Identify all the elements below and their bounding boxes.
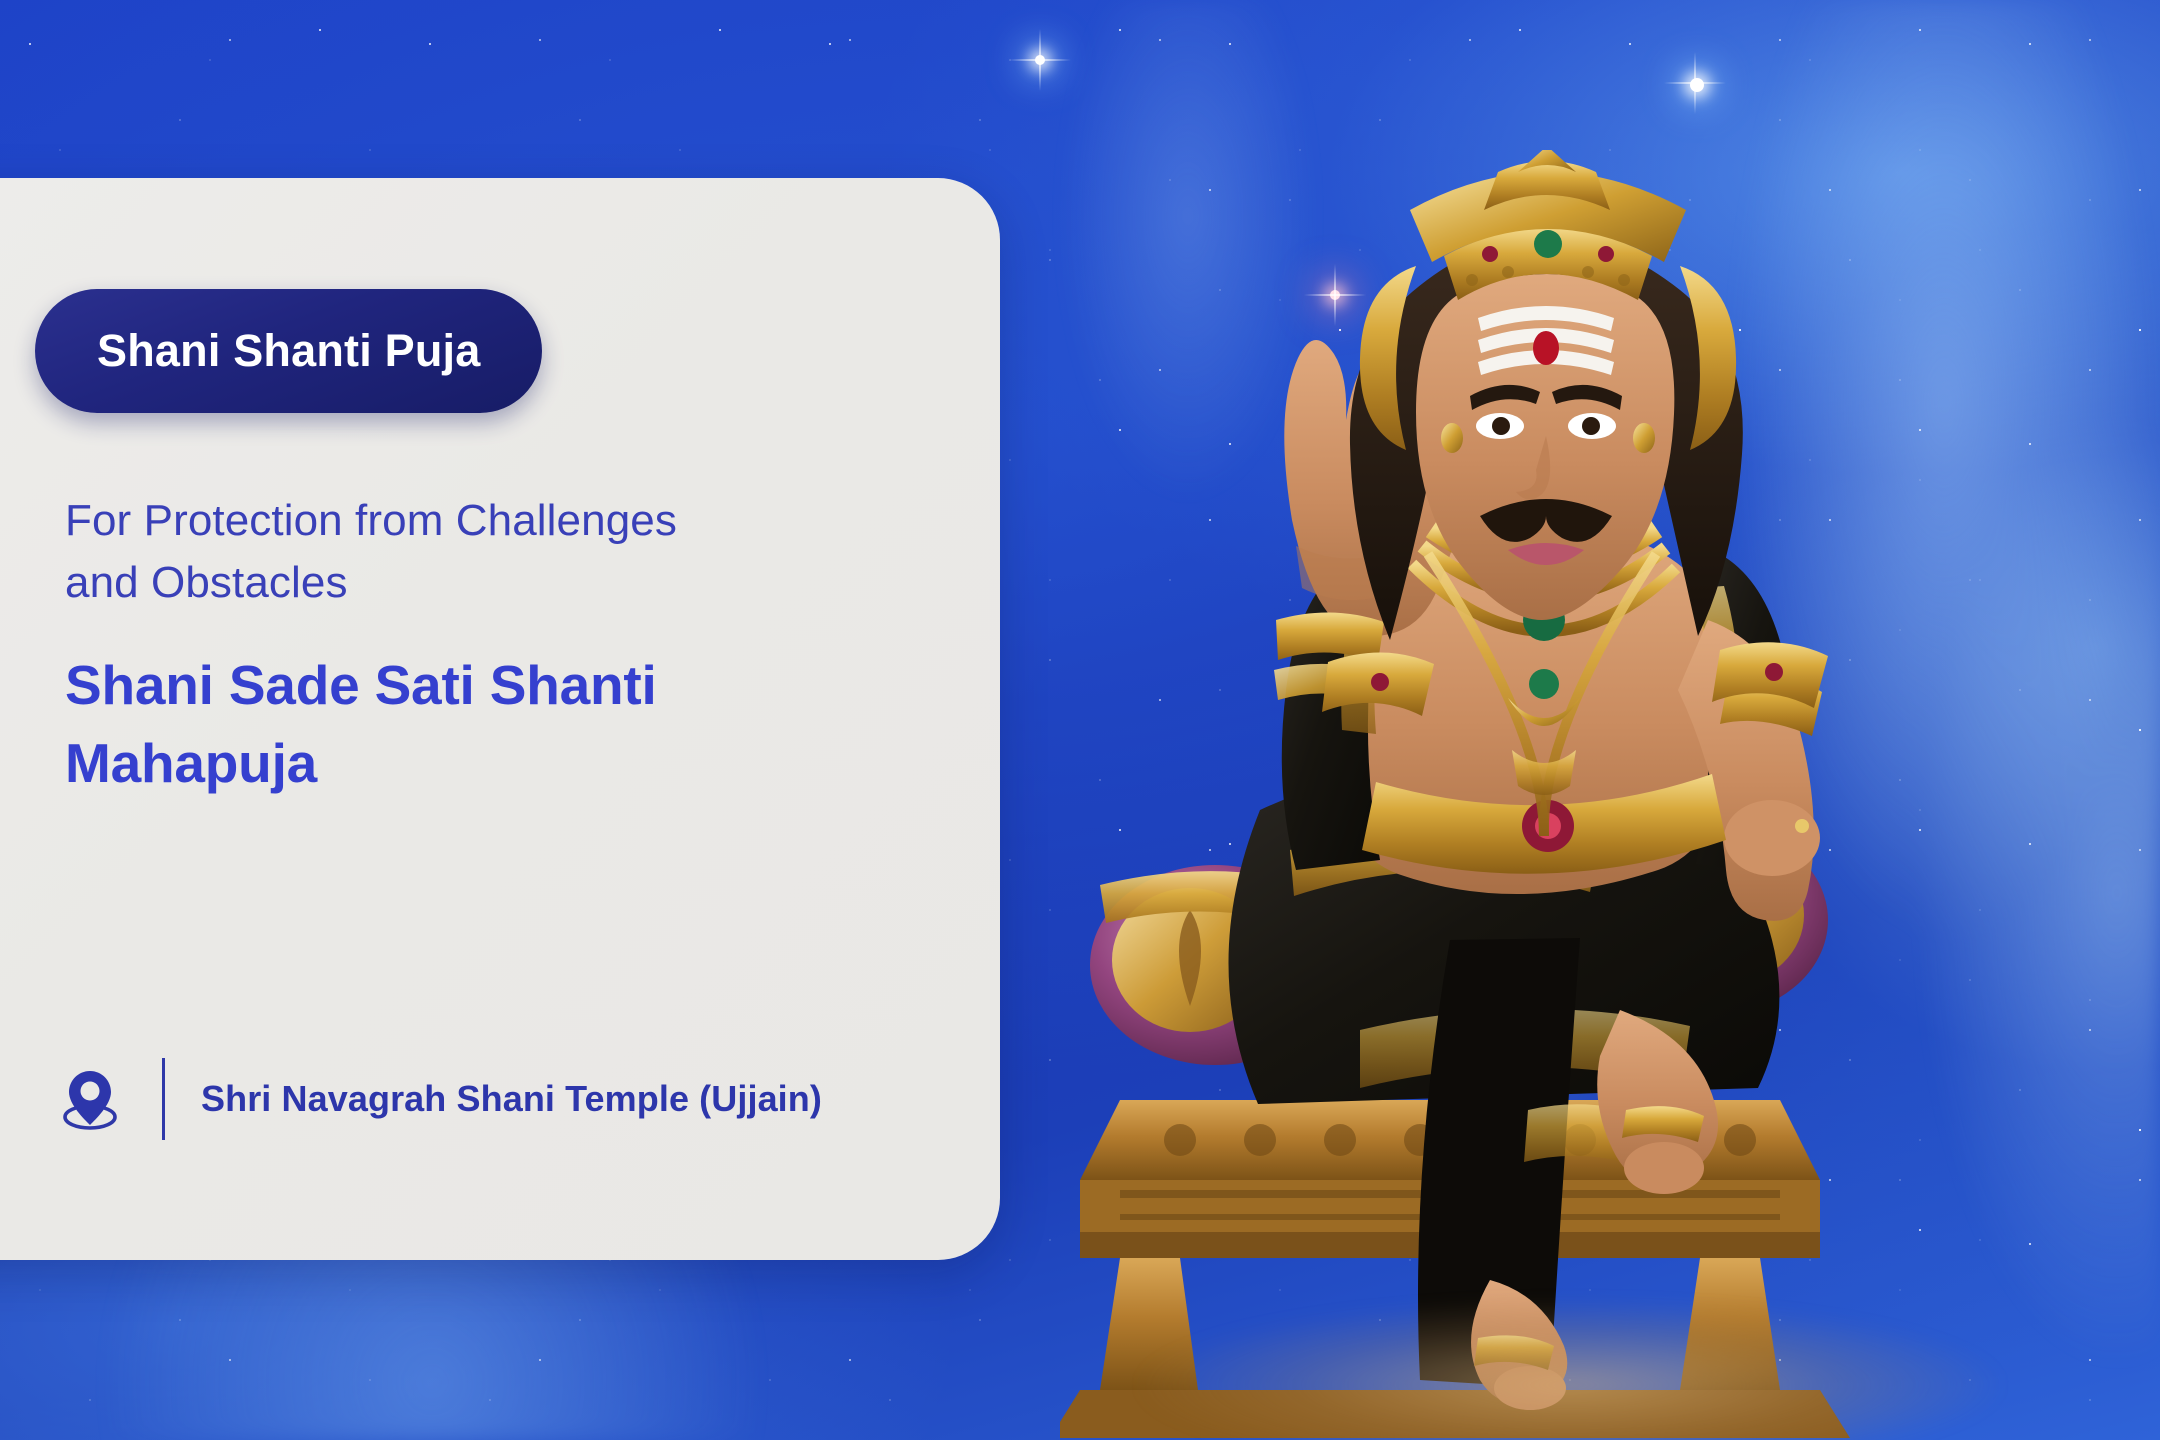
puja-category-badge-label: Shani Shanti Puja <box>97 325 480 377</box>
puja-category-badge[interactable]: Shani Shanti Puja <box>35 289 542 413</box>
location-pin-icon <box>60 1067 120 1131</box>
puja-subtitle: For Protection from Challenges and Obsta… <box>65 490 705 615</box>
temple-location-label: Shri Navagrah Shani Temple (Ujjain) <box>201 1078 822 1120</box>
floor-glow <box>1140 1300 2000 1440</box>
bright-star-icon <box>1035 55 1045 65</box>
info-card: Shani Shanti Puja For Protection from Ch… <box>0 178 1000 1260</box>
poster-canvas: Shani Shanti Puja For Protection from Ch… <box>0 0 2160 1440</box>
deity-artwork-svg <box>1060 150 2110 1440</box>
temple-location-row: Shri Navagrah Shani Temple (Ujjain) <box>60 1058 822 1140</box>
location-divider <box>162 1058 165 1140</box>
bright-star-corner-icon <box>1690 78 1704 92</box>
shani-dev-illustration <box>1060 150 2110 1440</box>
puja-headline: Shani Sade Sati Shanti Mahapuja <box>65 646 765 802</box>
